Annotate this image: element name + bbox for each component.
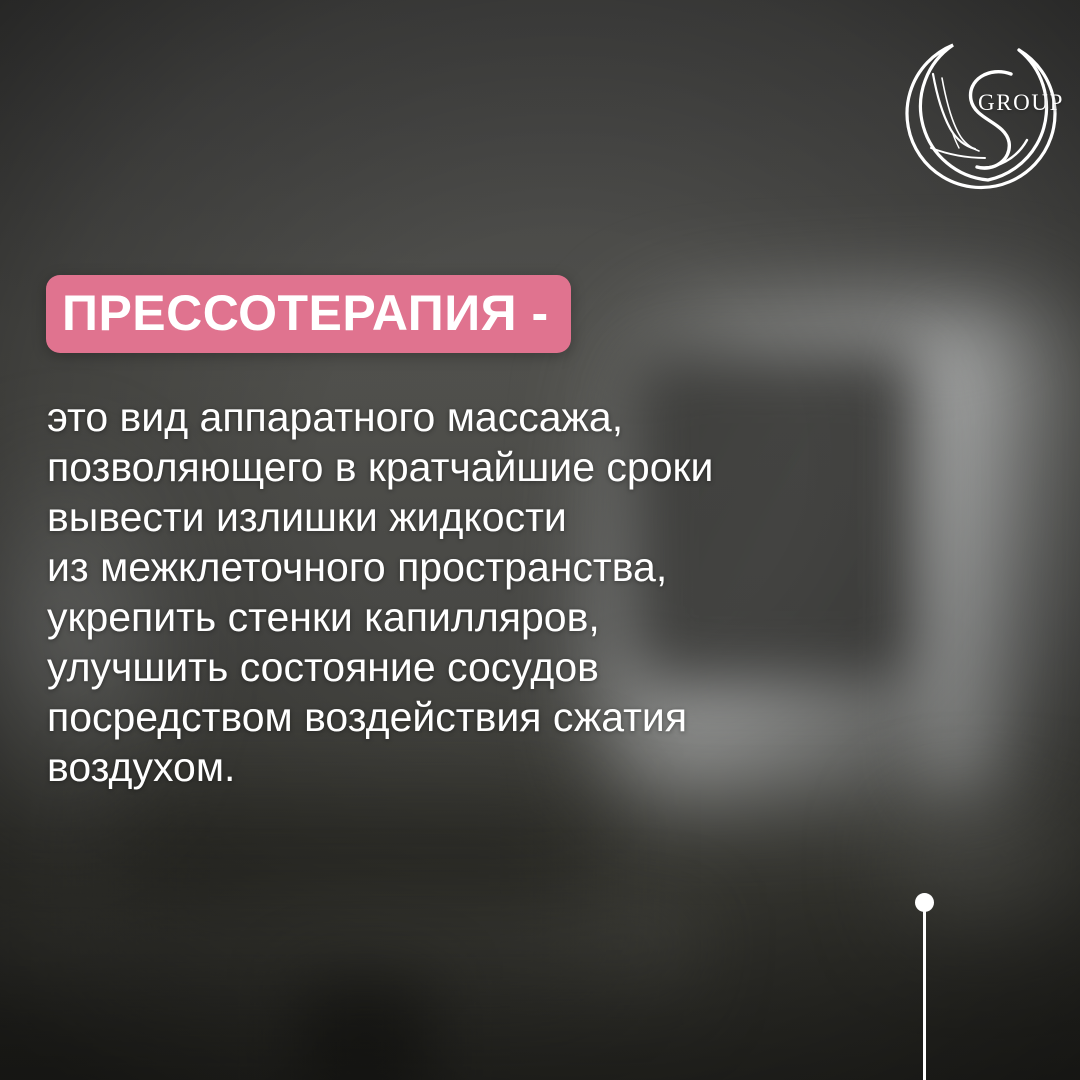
body-line: это вид аппаратного массажа,: [47, 392, 1007, 442]
body-line: укрепить стенки капилляров,: [47, 592, 1007, 642]
pin-stem: [923, 909, 926, 1080]
logo-wordmark: GROUP: [978, 90, 1064, 116]
body-line: из межклеточного пространства,: [47, 542, 1007, 592]
body-line: вывести излишки жидкости: [47, 492, 1007, 542]
headline-text: ПРЕССОТЕРАПИЯ -: [62, 288, 549, 341]
body-line: позволяющего в кратчайшие сроки: [47, 442, 1007, 492]
body-line: воздухом.: [47, 742, 1007, 792]
body-copy: это вид аппаратного массажа, позволяющег…: [47, 392, 1007, 792]
poster-canvas: GROUP ПРЕССОТЕРАПИЯ - это вид аппаратног…: [0, 0, 1080, 1080]
body-line: улучшить состояние сосудов: [47, 642, 1007, 692]
headline-banner: ПРЕССОТЕРАПИЯ -: [46, 275, 571, 353]
body-line: посредством воздействия сжатия: [47, 692, 1007, 742]
pin-dot-line-marker: [915, 893, 935, 1080]
